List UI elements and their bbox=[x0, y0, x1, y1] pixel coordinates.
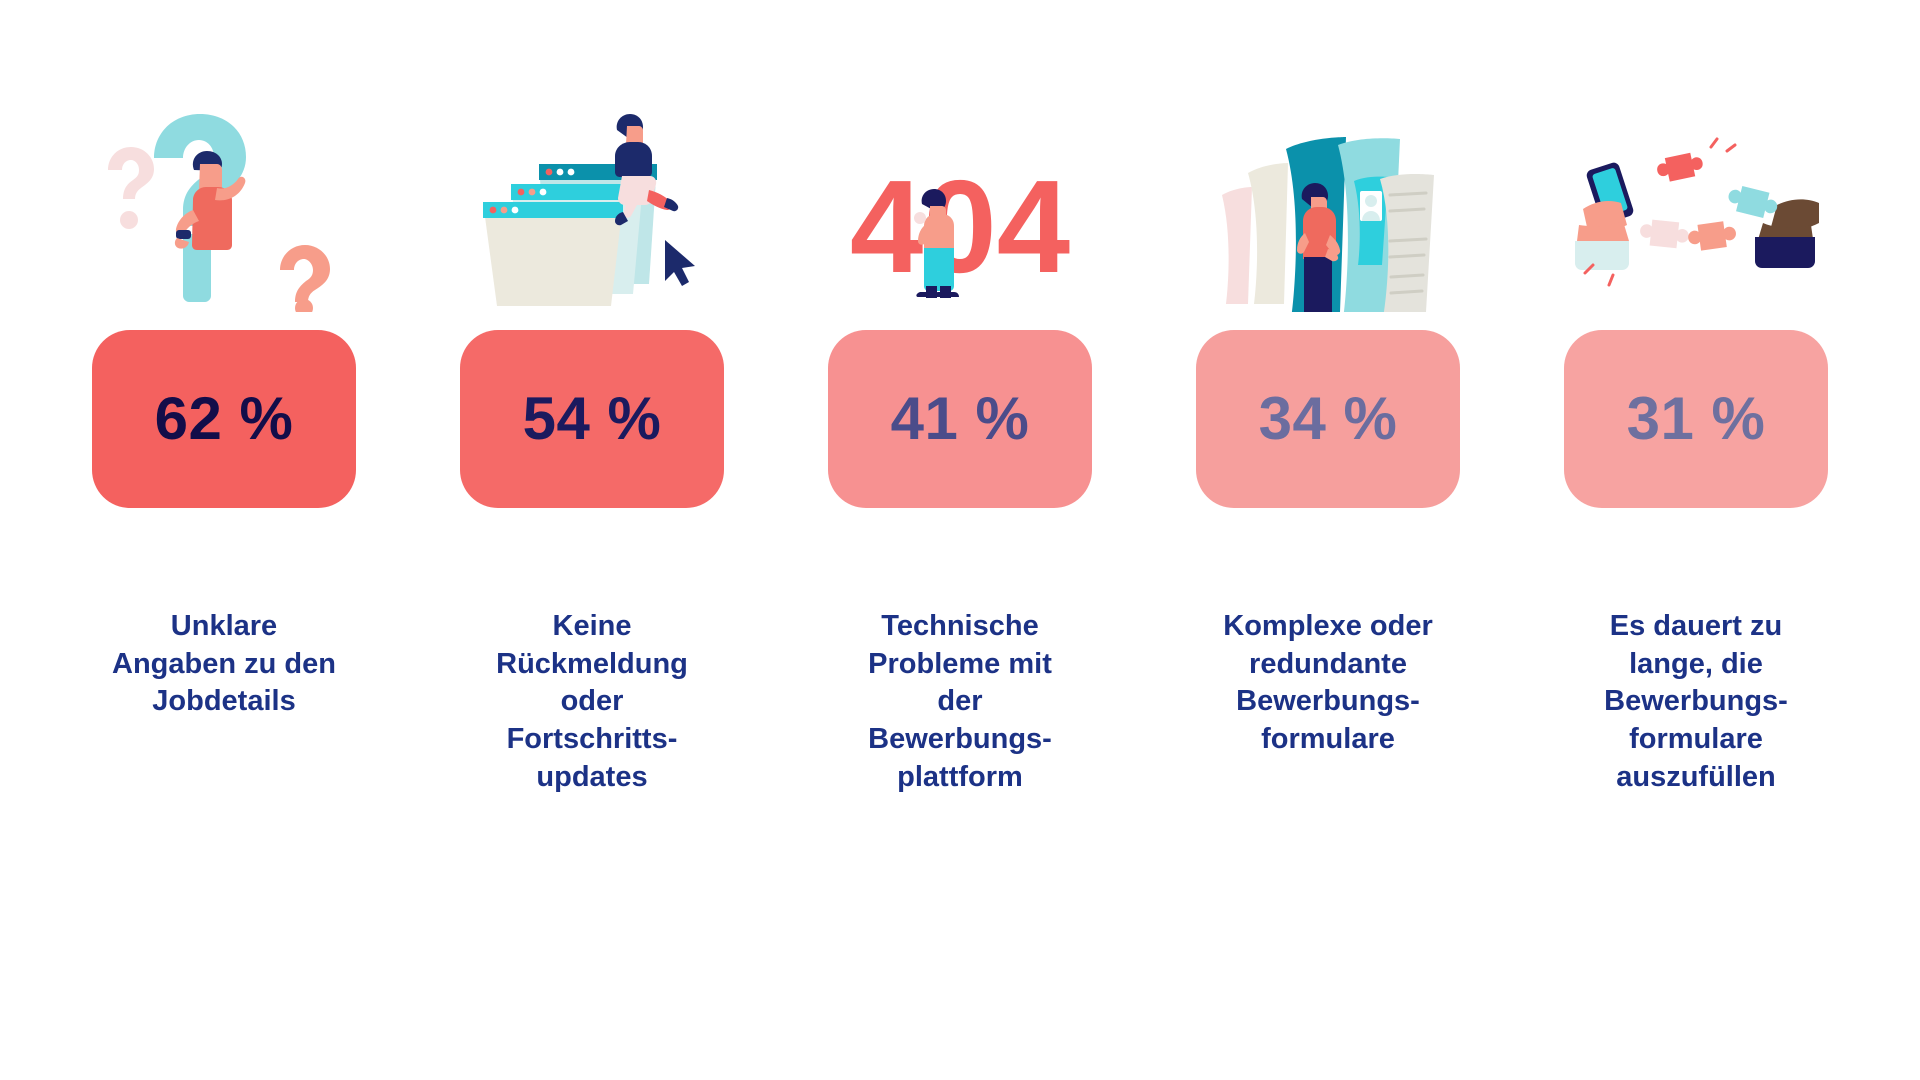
question-mark-pale-icon bbox=[108, 147, 154, 229]
percent-value-5: 31 % bbox=[1627, 389, 1766, 449]
percent-value-2: 54 % bbox=[523, 389, 662, 449]
stat-label-3: Technische Probleme mit der Bewerbungs- … bbox=[825, 608, 1095, 796]
puzzle-piece-pink-icon bbox=[1639, 218, 1690, 249]
illustration-5-wrap bbox=[1512, 0, 1880, 330]
form-sheet-cream bbox=[1248, 163, 1288, 304]
stat-columns: 62 % Unklare Angaben zu den Jobdetails bbox=[0, 0, 1920, 1080]
stat-column-4: 34 % Komplexe oder redundante Bewerbungs… bbox=[1144, 0, 1512, 1080]
percent-value-3: 41 % bbox=[891, 389, 1030, 449]
stacked-windows-folder-illustration bbox=[467, 112, 717, 312]
stat-column-1: 62 % Unklare Angaben zu den Jobdetails bbox=[40, 0, 408, 1080]
svg-text:404: 404 bbox=[850, 153, 1070, 300]
stat-column-3: 404 bbox=[776, 0, 1144, 1080]
illustration-3-wrap: 404 bbox=[776, 0, 1144, 330]
avatar-head-icon bbox=[1365, 195, 1377, 207]
form-sheet-pink bbox=[1222, 187, 1252, 304]
cursor-arrow-icon bbox=[665, 240, 695, 286]
percent-value-1: 62 % bbox=[155, 389, 294, 449]
stat-label-4: Komplexe oder redundante Bewerbungs- for… bbox=[1193, 608, 1463, 759]
error-code-404-text: 404 bbox=[850, 153, 1070, 300]
window-front-icon bbox=[483, 202, 623, 306]
long-form-person-illustration bbox=[1208, 137, 1448, 312]
question-marks-illustration bbox=[94, 112, 354, 312]
percent-value-4: 34 % bbox=[1259, 389, 1398, 449]
stat-label-1-wrap: Unklare Angaben zu den Jobdetails bbox=[89, 608, 359, 721]
percent-card-2: 54 % bbox=[460, 330, 724, 508]
error-404-illustration: 404 bbox=[840, 132, 1080, 312]
stat-label-2: Keine Rückmeldung oder Fortschritts- upd… bbox=[457, 608, 727, 796]
percent-card-5: 31 % bbox=[1564, 330, 1828, 508]
stat-column-5: 31 % Es dauert zu lange, die Bewerbungs-… bbox=[1512, 0, 1880, 1080]
illustration-4-wrap bbox=[1144, 0, 1512, 330]
puzzle-pieces-hands-illustration bbox=[1571, 137, 1821, 312]
stat-label-3-wrap: Technische Probleme mit der Bewerbungs- … bbox=[825, 608, 1095, 796]
percent-card-4: 34 % bbox=[1196, 330, 1460, 508]
stat-label-5-wrap: Es dauert zu lange, die Bewerbungs- form… bbox=[1561, 608, 1831, 796]
infographic-root: 62 % Unklare Angaben zu den Jobdetails bbox=[0, 0, 1920, 1080]
percent-card-3: 41 % bbox=[828, 330, 1092, 508]
puzzle-piece-coral-icon bbox=[1655, 151, 1705, 184]
puzzle-piece-teal-icon bbox=[1725, 183, 1780, 220]
puzzle-piece-salmon-icon bbox=[1687, 220, 1738, 252]
stat-column-2: 54 % Keine Rückmeldung oder Fortschritts… bbox=[408, 0, 776, 1080]
stat-label-5: Es dauert zu lange, die Bewerbungs- form… bbox=[1561, 608, 1831, 796]
stat-label-2-wrap: Keine Rückmeldung oder Fortschritts- upd… bbox=[457, 608, 727, 796]
illustration-2-wrap bbox=[408, 0, 776, 330]
stat-label-1: Unklare Angaben zu den Jobdetails bbox=[89, 608, 359, 721]
percent-card-1: 62 % bbox=[92, 330, 356, 508]
hand-with-phone-icon bbox=[1575, 161, 1635, 270]
illustration-1-wrap bbox=[40, 0, 408, 330]
question-mark-salmon-icon bbox=[280, 245, 330, 312]
stat-label-4-wrap: Komplexe oder redundante Bewerbungs- for… bbox=[1193, 608, 1463, 759]
